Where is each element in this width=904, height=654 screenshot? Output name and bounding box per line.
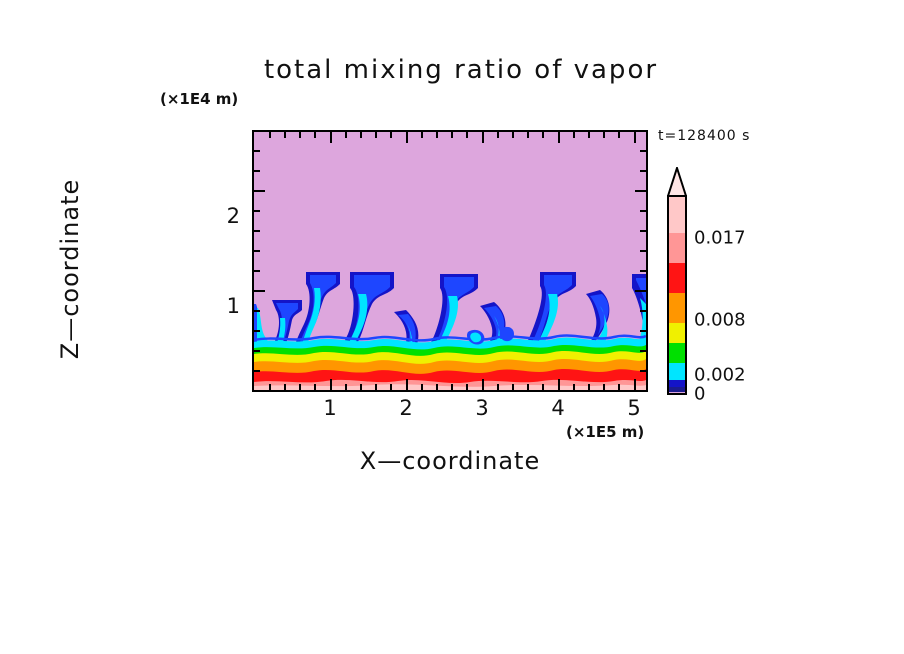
y-tick-label: 1 (222, 294, 240, 318)
colorbar-band (669, 363, 685, 380)
x-major-tick-top (634, 132, 636, 143)
x-minor-tick (269, 384, 271, 390)
time-annotation: t=128400 s (658, 128, 750, 144)
x-major-tick-top (482, 132, 484, 143)
x-minor-tick-top (284, 132, 286, 138)
y-unit-label: (×1E4 m) (160, 90, 238, 108)
colorbar-band (669, 343, 685, 363)
x-major-tick (482, 379, 484, 390)
y-minor-tick-right (640, 370, 646, 372)
x-minor-tick-top (603, 132, 605, 138)
x-minor-tick (573, 384, 575, 390)
x-major-tick-top (330, 132, 332, 143)
vapor-field-svg (254, 132, 646, 390)
colorbar-band (669, 233, 685, 263)
y-minor-tick (254, 230, 260, 232)
x-minor-tick-top (269, 132, 271, 138)
x-minor-tick-top (618, 132, 620, 138)
y-minor-tick-right (640, 170, 646, 172)
contour-field (254, 132, 646, 390)
y-minor-tick (254, 370, 260, 372)
x-major-tick (330, 379, 332, 390)
y-minor-tick-right (640, 230, 646, 232)
x-minor-tick (466, 384, 468, 390)
x-minor-tick-top (542, 132, 544, 138)
x-minor-tick (542, 384, 544, 390)
colorbar (667, 195, 687, 395)
y-minor-tick-right (640, 210, 646, 212)
page-title: total mixing ratio of vapor (246, 55, 676, 85)
colorbar-tick-label: 0.008 (694, 310, 746, 331)
x-minor-tick-top (360, 132, 362, 138)
x-minor-tick-top (451, 132, 453, 138)
x-minor-tick-top (314, 132, 316, 138)
colorbar-band (669, 263, 685, 293)
colorbar-tick-label: 0.002 (694, 365, 746, 386)
x-major-tick-top (406, 132, 408, 143)
x-minor-tick-top (436, 132, 438, 138)
x-axis-title: X—coordinate (300, 447, 600, 475)
y-minor-tick (254, 330, 260, 332)
x-minor-tick (284, 384, 286, 390)
x-minor-tick (497, 384, 499, 390)
figure-canvas: total mixing ratio of vapor (×1E4 m) t=1… (0, 0, 904, 654)
x-minor-tick-top (573, 132, 575, 138)
x-major-tick-top (558, 132, 560, 143)
x-minor-tick (299, 384, 301, 390)
x-minor-tick (360, 384, 362, 390)
x-minor-tick (390, 384, 392, 390)
x-minor-tick (512, 384, 514, 390)
y-tick-label: 2 (222, 204, 240, 228)
y-minor-tick (254, 350, 260, 352)
colorbar-band (669, 392, 685, 395)
x-minor-tick-top (375, 132, 377, 138)
x-tick-label: 3 (475, 396, 488, 420)
x-minor-tick (375, 384, 377, 390)
x-minor-tick-top (588, 132, 590, 138)
x-unit-label: (×1E5 m) (566, 423, 644, 441)
x-minor-tick (603, 384, 605, 390)
colorbar-tick-label: 0.017 (694, 228, 746, 249)
colorbar-tick-label: 0 (694, 384, 705, 405)
y-major-tick-right (635, 190, 646, 192)
y-minor-tick-right (640, 330, 646, 332)
y-major-tick-right (635, 290, 646, 292)
x-minor-tick-top (466, 132, 468, 138)
x-minor-tick-top (390, 132, 392, 138)
x-minor-tick-top (512, 132, 514, 138)
x-minor-tick (588, 384, 590, 390)
y-minor-tick-right (640, 310, 646, 312)
y-minor-tick-right (640, 250, 646, 252)
contour-plot (252, 130, 648, 392)
y-minor-tick (254, 150, 260, 152)
y-axis-title: Z—coordinate (56, 139, 84, 399)
x-minor-tick (421, 384, 423, 390)
x-major-tick (406, 379, 408, 390)
x-tick-label: 4 (551, 396, 564, 420)
x-minor-tick (618, 384, 620, 390)
y-minor-tick-right (640, 270, 646, 272)
y-major-tick (254, 190, 265, 192)
x-tick-label: 1 (323, 396, 336, 420)
y-minor-tick (254, 270, 260, 272)
y-minor-tick-right (640, 150, 646, 152)
y-major-tick (254, 290, 265, 292)
x-major-tick (634, 379, 636, 390)
colorbar-band (669, 323, 685, 343)
y-minor-tick (254, 170, 260, 172)
x-minor-tick (451, 384, 453, 390)
x-minor-tick-top (527, 132, 529, 138)
colorbar-arrow-extend (667, 167, 687, 197)
x-minor-tick (314, 384, 316, 390)
y-minor-tick (254, 310, 260, 312)
y-minor-tick-right (640, 350, 646, 352)
x-minor-tick-top (299, 132, 301, 138)
x-major-tick (558, 379, 560, 390)
x-minor-tick-top (345, 132, 347, 138)
colorbar-band (669, 380, 685, 387)
y-minor-tick (254, 210, 260, 212)
y-minor-tick (254, 250, 260, 252)
x-minor-tick-top (421, 132, 423, 138)
colorbar-band (669, 293, 685, 323)
x-tick-label: 2 (399, 396, 412, 420)
x-minor-tick (345, 384, 347, 390)
x-minor-tick (436, 384, 438, 390)
x-minor-tick-top (497, 132, 499, 138)
x-tick-label: 5 (627, 396, 640, 420)
colorbar-band (669, 197, 685, 233)
x-minor-tick (527, 384, 529, 390)
